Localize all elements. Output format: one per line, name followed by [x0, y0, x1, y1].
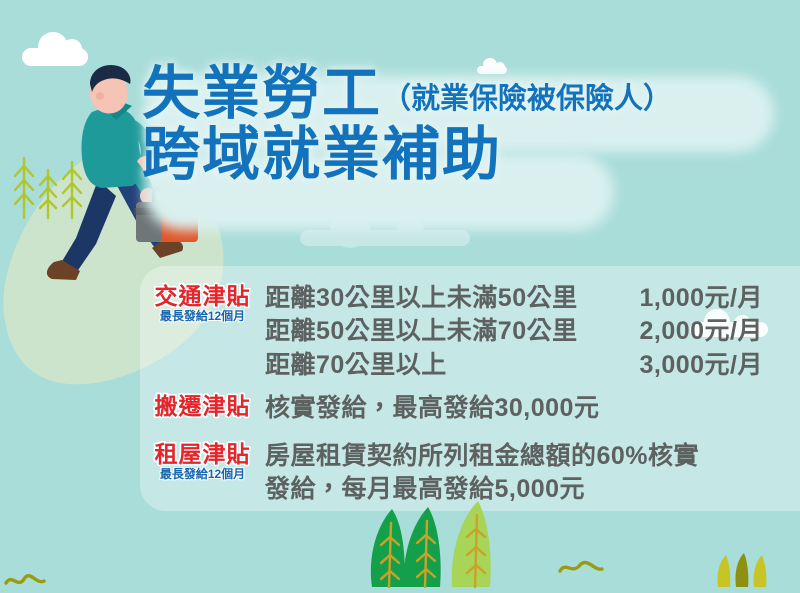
subsidy-tier-amount: 3,000元/月 [603, 349, 763, 382]
subsidy-tier-row: 距離30公里以上未滿50公里 1,000元/月 [265, 282, 800, 315]
subsidy-tier-condition: 距離50公里以上未滿70公里 [265, 315, 603, 348]
subsidy-tier-amount: 1,000元/月 [603, 282, 763, 315]
subsidy-tier-condition: 距離30公里以上未滿50公里 [265, 282, 603, 315]
title-parenthetical-text: （就業保險被保險人） [382, 75, 672, 127]
subsidy-row-transport: 交通津貼 最長發給12個月 距離30公里以上未滿50公里 1,000元/月 距離… [140, 282, 800, 382]
subsidy-label-group: 租屋津貼 最長發給12個月 [140, 440, 265, 481]
subsidy-label-transport: 交通津貼 [140, 284, 265, 309]
subsidy-description-moving: 核實發給，最高發給30,000元 [265, 392, 800, 425]
subsidy-detail-moving: 核實發給，最高發給30,000元 [265, 392, 800, 425]
cloud-icon [300, 230, 470, 246]
subsidy-tier-row: 距離70公里以上 3,000元/月 [265, 349, 800, 382]
subsidy-note-transport: 最長發給12個月 [140, 310, 265, 323]
subsidy-note-rent: 最長發給12個月 [140, 468, 265, 481]
subsidy-label-rent: 租屋津貼 [140, 442, 265, 467]
subsidy-label-moving: 搬遷津貼 [140, 394, 265, 419]
subsidy-description-rent-line-1: 房屋租賃契約所列租金總額的60%核實 [265, 440, 800, 473]
subsidy-row-rent: 租屋津貼 最長發給12個月 房屋租賃契約所列租金總額的60%核實 發給，每月最高… [140, 440, 800, 507]
subsidy-panel: 交通津貼 最長發給12個月 距離30公里以上未滿50公里 1,000元/月 距離… [140, 266, 800, 511]
subsidy-tier-row: 距離50公里以上未滿70公里 2,000元/月 [265, 315, 800, 348]
title-main-text: 失業勞工 [142, 62, 382, 127]
subsidy-label-group: 交通津貼 最長發給12個月 [140, 282, 265, 323]
subsidy-detail-rent: 房屋租賃契約所列租金總額的60%核實 發給，每月最高發給5,000元 [265, 440, 800, 507]
title-subtitle-text: 跨域就業補助 [142, 123, 792, 188]
subsidy-tier-amount: 2,000元/月 [603, 315, 763, 348]
subsidy-description-rent-line-2: 發給，每月最高發給5,000元 [265, 473, 800, 506]
page-title: 失業勞工 （就業保險被保險人） 跨域就業補助 [142, 62, 792, 188]
subsidy-tier-condition: 距離70公里以上 [265, 349, 603, 382]
subsidy-label-group: 搬遷津貼 [140, 392, 265, 419]
subsidy-detail-transport: 距離30公里以上未滿50公里 1,000元/月 距離50公里以上未滿70公里 2… [265, 282, 800, 382]
poster-canvas: 失業勞工 （就業保險被保險人） 跨域就業補助 交通津貼 最長發給12個月 距離3… [0, 0, 800, 593]
subsidy-row-moving: 搬遷津貼 核實發給，最高發給30,000元 [140, 392, 800, 425]
